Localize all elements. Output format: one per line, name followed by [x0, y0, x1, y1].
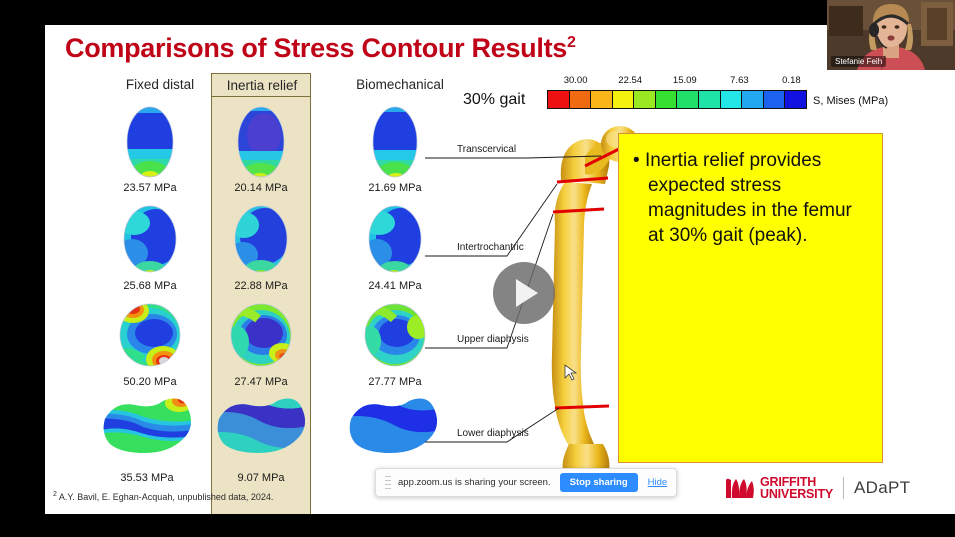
webcam-video-tile[interactable]: Stefanie Feih	[827, 0, 955, 70]
contour-value-label: 35.53 MPa	[97, 472, 197, 484]
colorbar-segment-8	[721, 91, 743, 108]
column-header-biomechanical: Biomechanical	[330, 77, 470, 92]
contour-figure	[211, 393, 311, 471]
presentation-slide: Comparisons of Stress Contour Results2 F…	[45, 25, 955, 514]
footnote-text: A.Y. Bavil, E. Eghan-Acquah, unpublished…	[59, 492, 274, 502]
callout-body: Inertia relief provides expected stress …	[645, 150, 852, 246]
femur-annotation-intertrochantric: Intertrochantric	[457, 242, 524, 253]
brand-lockup: GRIFFITH UNIVERSITY ADaPT	[725, 473, 910, 503]
page-title-superscript: 2	[567, 34, 576, 51]
colorbar-segment-3	[613, 91, 635, 108]
colorbar-segment-6	[677, 91, 699, 108]
griffith-line-2: UNIVERSITY	[760, 488, 833, 501]
adapt-label: ADaPT	[854, 478, 910, 498]
contour-figure	[211, 297, 311, 375]
colorbar-tick: 22.54	[618, 75, 642, 86]
colorbar-segment-11	[785, 91, 806, 108]
contour-figure	[211, 201, 311, 279]
page-title-text: Comparisons of Stress Contour Results	[65, 33, 567, 63]
contour-value-label: 20.14 MPa	[211, 182, 311, 194]
contour-value-label: 22.88 MPa	[211, 280, 311, 292]
contour-value-label: 25.68 MPa	[100, 280, 200, 292]
colorbar-tick: 30.00	[564, 75, 588, 86]
contour-cell-fixed-distal-lower-diaphysis: 35.53 MPa	[97, 393, 197, 484]
callout-bullet: •	[633, 150, 640, 171]
colorbar-segment-9	[742, 91, 764, 108]
footnote-marker: 2	[53, 491, 57, 498]
contour-figure	[100, 201, 200, 279]
contour-cell-inertia-relief-intertrochantric: 22.88 MPa	[211, 201, 311, 292]
stop-sharing-button[interactable]: Stop sharing	[560, 473, 638, 492]
colorbar-segment-5	[656, 91, 678, 108]
contour-value-label: 9.07 MPa	[211, 472, 311, 484]
colorbar-segment-0	[548, 91, 570, 108]
callout-text: • Inertia relief provides expected stres…	[648, 148, 872, 248]
contour-cell-fixed-distal-upper-diaphysis: 50.20 MPa	[100, 297, 200, 388]
contour-figure	[100, 297, 200, 375]
colorbar-tick: 15.09	[673, 75, 697, 86]
column-header-fixed-distal: Fixed distal	[100, 77, 220, 92]
brand-divider	[843, 477, 844, 499]
contour-cell-fixed-distal-transcervical: 23.57 MPa	[100, 103, 200, 194]
colorbar-segment-2	[591, 91, 613, 108]
colorbar-segment-1	[570, 91, 592, 108]
griffith-wordmark: GRIFFITH UNIVERSITY	[760, 476, 833, 501]
drag-handle-icon[interactable]	[385, 476, 391, 489]
femur-annotation-transcervical: Transcervical	[457, 144, 516, 155]
griffith-logo-icon	[725, 477, 755, 499]
callout-box: • Inertia relief provides expected stres…	[618, 133, 883, 463]
contour-cell-inertia-relief-lower-diaphysis: 9.07 MPa	[211, 393, 311, 484]
femur-annotation-upper-diaphysis: Upper diaphysis	[457, 334, 529, 345]
contour-cell-inertia-relief-transcervical: 20.14 MPa	[211, 103, 311, 194]
webcam-participant-name: Stefanie Feih	[831, 56, 886, 67]
colorbar-strip	[547, 90, 807, 109]
stress-colorbar-legend: 30% gait 30.00 22.54 15.09 7.63 0.18 S, …	[463, 73, 933, 113]
contour-figure	[211, 103, 311, 181]
colorbar-tick-labels: 30.00 22.54 15.09 7.63 0.18	[547, 75, 807, 89]
page-title: Comparisons of Stress Contour Results2	[65, 33, 576, 64]
contour-value-label: 50.20 MPa	[100, 376, 200, 388]
colorbar-segment-7	[699, 91, 721, 108]
colorbar-unit-label: S, Mises (MPa)	[813, 95, 888, 107]
contour-figure	[97, 393, 197, 471]
play-icon[interactable]	[493, 262, 555, 324]
share-status-text: app.zoom.us is sharing your screen.	[398, 477, 551, 488]
play-triangle-icon	[516, 279, 538, 307]
contour-figure	[100, 103, 200, 181]
footnote: 2 A.Y. Bavil, E. Eghan-Acquah, unpublish…	[53, 491, 273, 502]
femur-annotation-lower-diaphysis: Lower diaphysis	[457, 428, 529, 439]
contour-cell-fixed-distal-intertrochantric: 25.68 MPa	[100, 201, 200, 292]
hide-share-link[interactable]: Hide	[648, 477, 668, 488]
colorbar-tick: 0.18	[782, 75, 801, 86]
contour-value-label: 27.47 MPa	[211, 376, 311, 388]
colorbar-tick: 7.63	[730, 75, 749, 86]
contour-cell-inertia-relief-upper-diaphysis: 27.47 MPa	[211, 297, 311, 388]
screen-share-viewport: Comparisons of Stress Contour Results2 F…	[0, 0, 955, 537]
colorbar-segment-4	[634, 91, 656, 108]
colorbar-gait-label: 30% gait	[463, 91, 525, 109]
colorbar-segment-10	[764, 91, 786, 108]
screen-share-notification-bar: app.zoom.us is sharing your screen. Stop…	[375, 468, 677, 497]
column-header-inertia-relief: Inertia relief	[212, 75, 312, 95]
section-plane-lower-diaphysis	[555, 406, 609, 408]
contour-value-label: 23.57 MPa	[100, 182, 200, 194]
